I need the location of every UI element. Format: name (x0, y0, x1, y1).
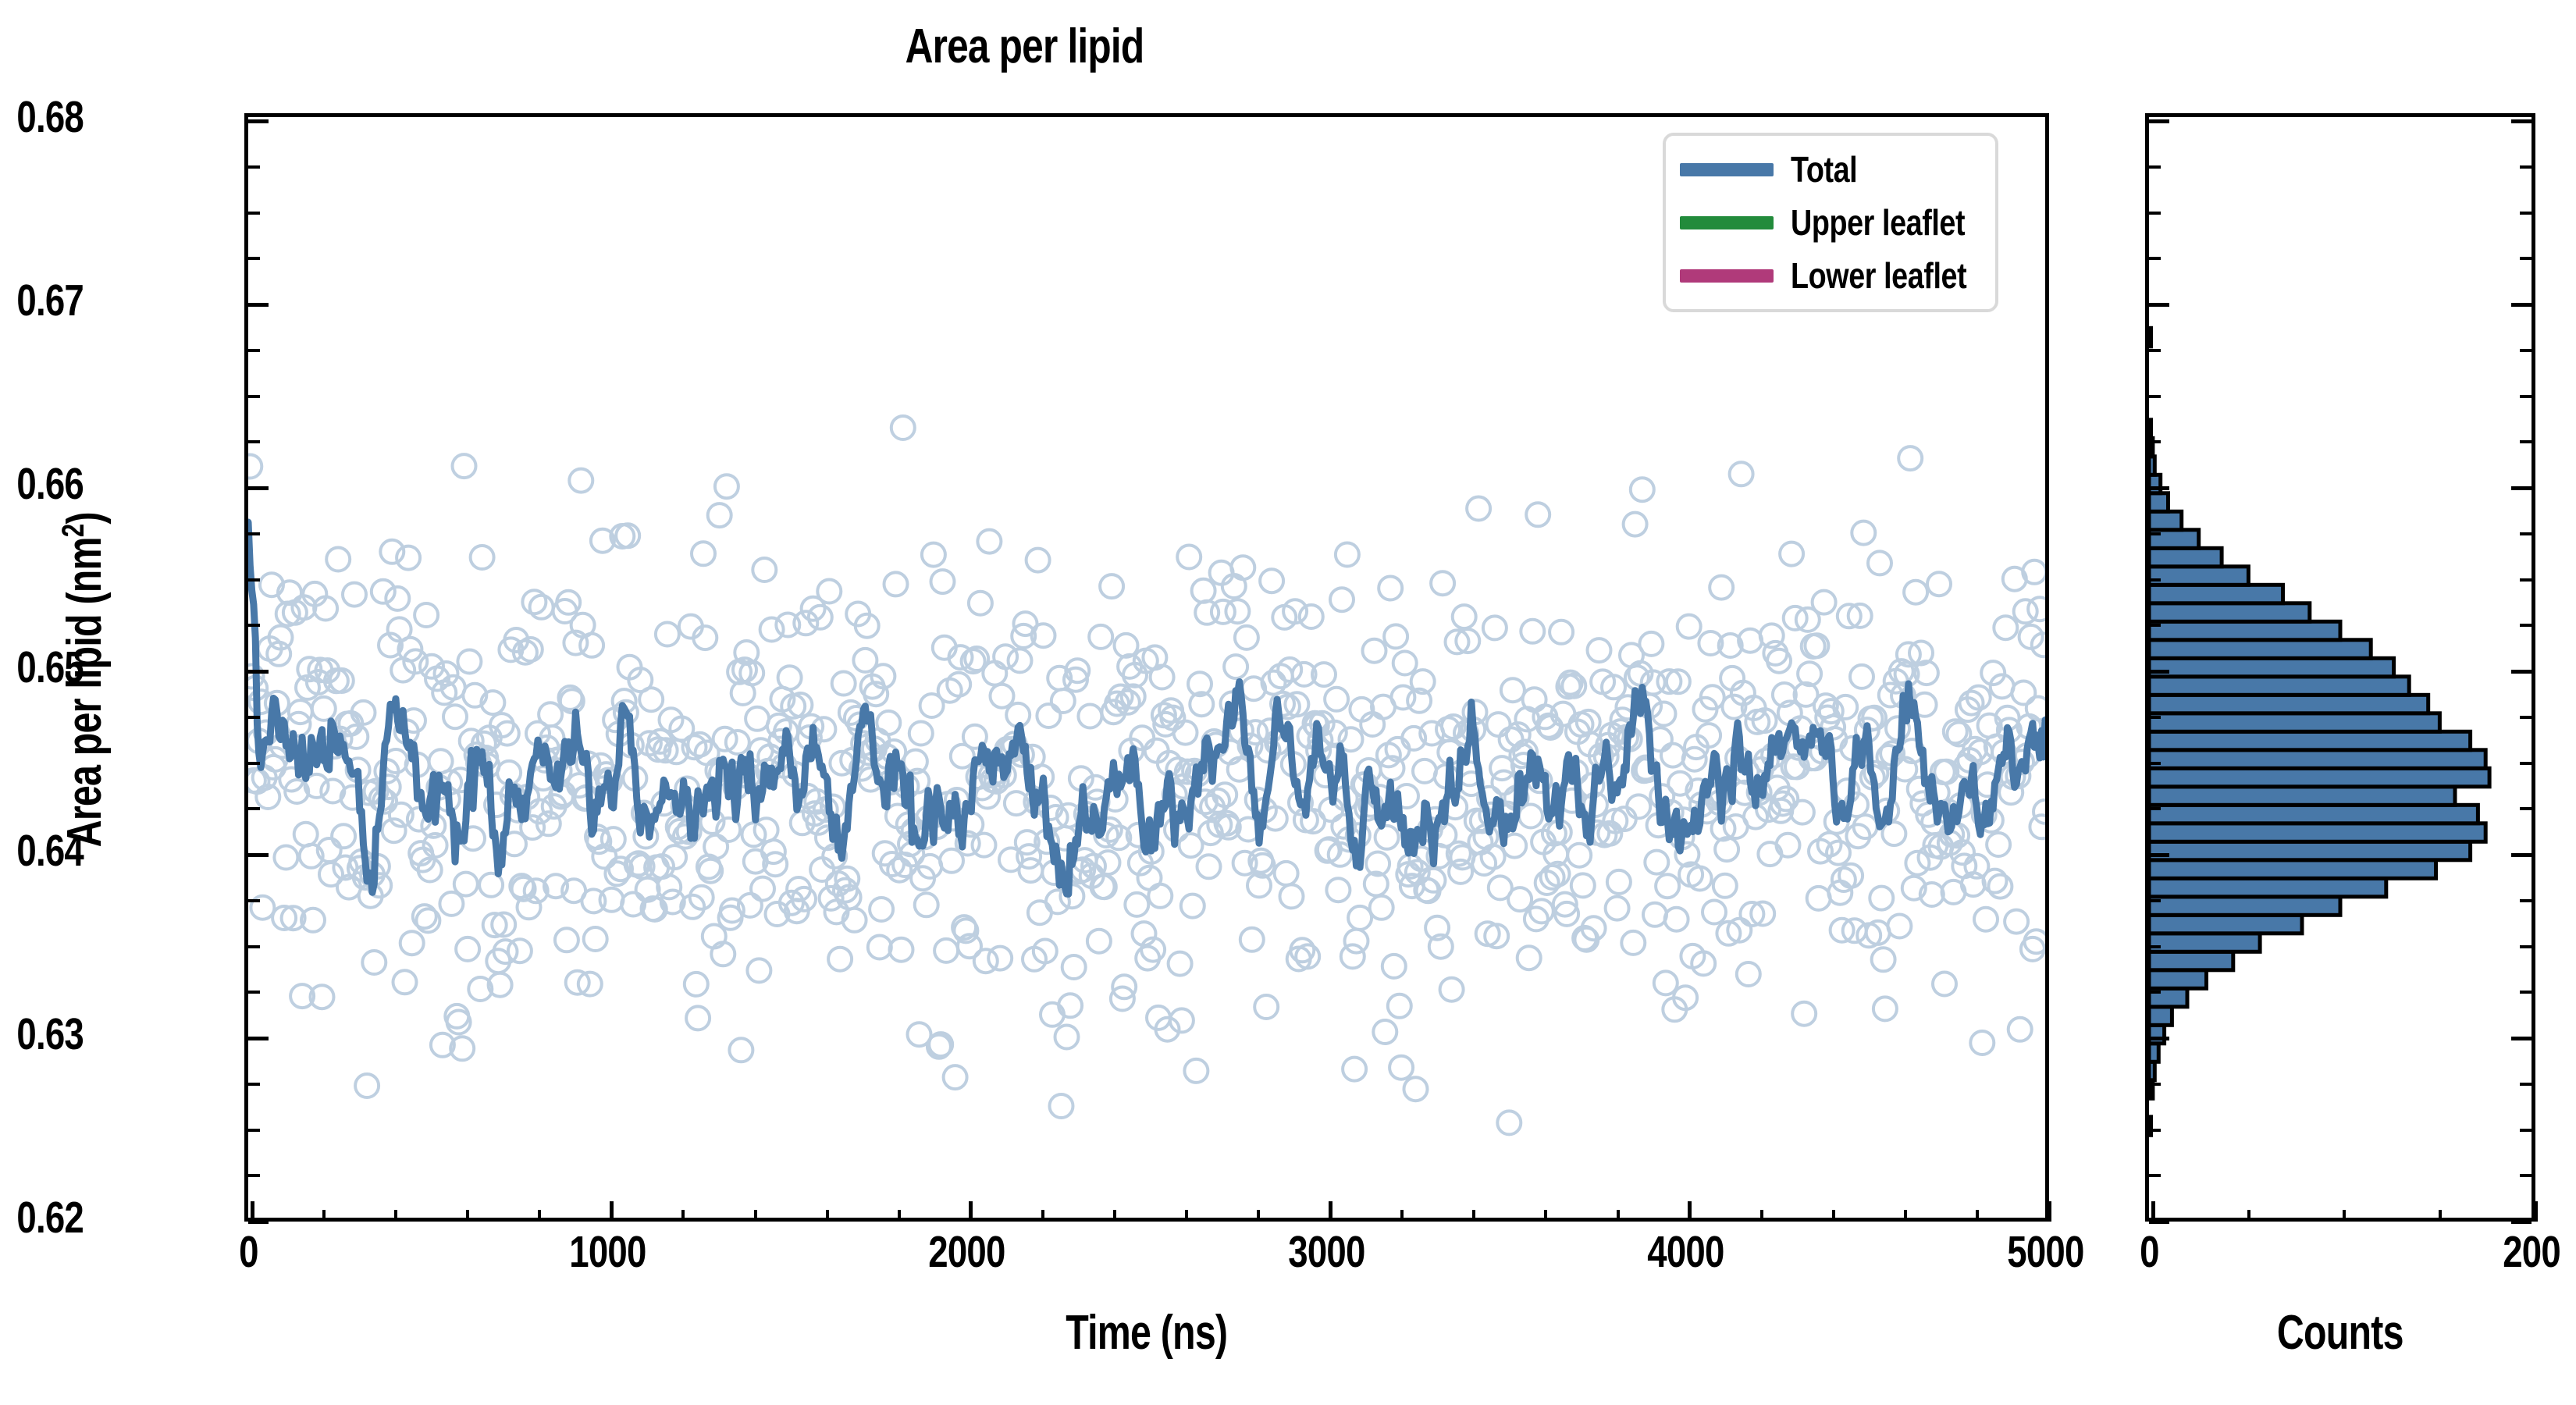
x-tick-label: 4000 (1530, 1226, 1842, 1278)
hist-y-tick-minor (2149, 578, 2161, 582)
histogram-bar (2149, 787, 2455, 806)
histogram-bar (2149, 731, 2471, 750)
hist-x-tick-minor (2439, 1210, 2442, 1222)
histogram-bar (2149, 1117, 2151, 1136)
histogram-svg (2149, 117, 2532, 1218)
histogram-bar (2149, 567, 2248, 585)
y-tick-label-text: 0.68 (16, 91, 84, 143)
y-tick-minor (248, 395, 260, 398)
x-axis-label-right: Counts (2145, 1305, 2535, 1361)
histogram-bar (2149, 934, 2260, 952)
hist-y-tick-major (2149, 670, 2169, 674)
histogram-bar (2149, 695, 2428, 713)
histogram-bar (2149, 420, 2151, 439)
hist-y-tick-minor (2149, 349, 2161, 352)
x-tick-minor (1041, 1210, 1044, 1222)
y-tick-minor (248, 945, 260, 948)
y-tick-minor (248, 762, 260, 765)
histogram-bar (2149, 658, 2394, 677)
hist-y-tick-minor (2149, 532, 2161, 535)
y-tick-minor (248, 1129, 260, 1132)
histogram-bar (2149, 768, 2489, 787)
hist-x-tick-minor (2247, 1210, 2250, 1222)
hist-y-tick-minor (2149, 807, 2161, 810)
hist-x-tick-label: 0 (1993, 1226, 2305, 1278)
x-axis-label-right-text: Counts (2277, 1305, 2403, 1361)
histogram-bar (2149, 823, 2485, 842)
hist-y-tick-minor-right (2520, 395, 2532, 398)
hist-x-tick-label: 200 (2375, 1226, 2576, 1278)
y-tick-minor (248, 716, 260, 719)
legend-label: Lower leaflet (1791, 254, 2005, 297)
x-tick-minor (1617, 1210, 1620, 1222)
hist-y-tick-minor-right (2520, 899, 2532, 902)
hist-y-tick-minor (2149, 899, 2161, 902)
hist-y-tick-minor-right (2520, 349, 2532, 352)
y-tick-minor (248, 257, 260, 260)
hist-y-tick-minor (2149, 440, 2161, 443)
y-tick-label-text: 0.62 (16, 1192, 84, 1243)
x-tick-major (1688, 1201, 1692, 1222)
page-title: Area per lipid (205, 19, 1845, 74)
x-tick-minor (1904, 1210, 1907, 1222)
hist-y-tick-major-right (2511, 1037, 2532, 1040)
hist-y-tick-minor (2149, 257, 2161, 260)
y-tick-label-text: 0.67 (16, 275, 84, 326)
legend-swatch-icon (1680, 163, 1774, 176)
x-tick-label-text: 3000 (1288, 1226, 1364, 1278)
y-tick-major (248, 1037, 269, 1040)
legend[interactable]: TotalUpper leafletLower leaflet (1663, 133, 1998, 312)
hist-y-tick-minor-right (2520, 1083, 2532, 1086)
x-tick-label: 3000 (1170, 1226, 1482, 1278)
legend-label: Upper leaflet (1791, 201, 2003, 244)
hist-y-tick-minor (2149, 395, 2161, 398)
x-tick-minor (898, 1210, 901, 1222)
hist-y-tick-major (2149, 303, 2169, 307)
y-tick-label-text: 0.65 (16, 642, 84, 693)
x-tick-minor (681, 1210, 685, 1222)
y-tick-label: 0.66 (0, 458, 232, 510)
hist-x-tick-label-text: 0 (2140, 1226, 2159, 1278)
hist-y-tick-minor-right (2520, 578, 2532, 582)
hist-y-tick-major-right (2511, 1220, 2532, 1224)
histogram-bar (2149, 713, 2439, 732)
hist-y-tick-minor (2149, 212, 2161, 215)
x-tick-minor (1185, 1210, 1188, 1222)
x-tick-minor (466, 1210, 469, 1222)
histogram-bar (2149, 841, 2471, 860)
hist-y-tick-minor-right (2520, 165, 2532, 169)
y-tick-minor (248, 1083, 260, 1086)
histogram-bar (2149, 915, 2302, 934)
hist-y-tick-minor-right (2520, 807, 2532, 810)
histogram-bar (2149, 1044, 2158, 1062)
hist-y-tick-minor (2149, 716, 2161, 719)
hist-y-tick-minor-right (2520, 212, 2532, 215)
hist-y-tick-minor-right (2520, 532, 2532, 535)
hist-y-tick-minor-right (2520, 257, 2532, 260)
hist-y-tick-minor (2149, 1174, 2161, 1177)
histogram-bar (2149, 878, 2386, 897)
hist-y-tick-minor-right (2520, 1174, 2532, 1177)
x-axis-label-left: Time (ns) (244, 1305, 2049, 1361)
histogram-bar (2149, 805, 2478, 823)
y-tick-label: 0.63 (0, 1008, 232, 1060)
legend-label: Total (1791, 148, 1872, 190)
hist-y-tick-major (2149, 486, 2169, 490)
x-tick-label: 1000 (451, 1226, 763, 1278)
hist-y-tick-minor (2149, 945, 2161, 948)
legend-swatch-icon (1680, 269, 1774, 283)
histogram-bar (2149, 897, 2340, 916)
hist-y-tick-minor-right (2520, 716, 2532, 719)
y-tick-minor (248, 624, 260, 627)
x-tick-minor (1544, 1210, 1547, 1222)
histogram-bar (2149, 493, 2169, 512)
y-tick-label: 0.65 (0, 642, 232, 693)
y-tick-major (248, 119, 269, 123)
histogram-bar (2149, 640, 2371, 659)
histogram-bar (2149, 457, 2154, 475)
x-axis-label-left-text: Time (ns) (1066, 1305, 1227, 1361)
histogram-bar (2149, 328, 2151, 347)
y-tick-label-text: 0.63 (16, 1008, 84, 1060)
figure-canvas: Area per lipid Area per lipid (nm2) Time… (0, 0, 2576, 1405)
histogram-bar (2149, 585, 2283, 603)
legend-item-total[interactable]: Total (1680, 153, 1981, 186)
hist-y-tick-major-right (2511, 670, 2532, 674)
hist-y-tick-minor (2149, 991, 2161, 994)
hist-y-tick-minor-right (2520, 624, 2532, 627)
histogram-clip (2149, 117, 2532, 1218)
y-tick-major (248, 486, 269, 490)
hist-y-tick-major (2149, 853, 2169, 857)
y-tick-minor (248, 807, 260, 810)
hist-x-tick-major (2534, 1201, 2538, 1222)
histogram-bar (2149, 1007, 2172, 1026)
y-tick-minor (248, 899, 260, 902)
y-tick-label-text: 0.66 (16, 458, 84, 510)
histogram-bar (2149, 677, 2409, 695)
x-tick-major (969, 1201, 973, 1222)
x-tick-minor (1113, 1210, 1116, 1222)
x-tick-label-text: 4000 (1647, 1226, 1724, 1278)
x-tick-major (610, 1201, 614, 1222)
hist-y-tick-major-right (2511, 119, 2532, 123)
y-tick-minor (248, 440, 260, 443)
hist-y-tick-minor (2149, 1129, 2161, 1132)
running-mean-line (248, 522, 2045, 894)
y-tick-minor (248, 349, 260, 352)
x-tick-major (2048, 1201, 2051, 1222)
legend-label-text: Total (1791, 148, 1857, 190)
legend-label-text: Lower leaflet (1791, 254, 1966, 297)
y-tick-minor (248, 165, 260, 169)
hist-y-tick-major (2149, 1037, 2169, 1040)
legend-swatch-icon (1680, 216, 1774, 229)
x-tick-minor (1257, 1210, 1260, 1222)
y-axis-label-exponent: 2 (56, 525, 91, 538)
hist-y-tick-minor (2149, 1083, 2161, 1086)
y-axis-label-tail: ) (58, 512, 112, 524)
y-tick-major (248, 670, 269, 674)
y-tick-major (248, 303, 269, 307)
y-tick-minor (248, 532, 260, 535)
hist-y-tick-major-right (2511, 853, 2532, 857)
hist-y-tick-major (2149, 119, 2169, 123)
x-tick-major (251, 1201, 254, 1222)
histogram-bar (2149, 970, 2207, 989)
hist-y-tick-minor (2149, 624, 2161, 627)
x-tick-label-text: 1000 (569, 1226, 646, 1278)
legend-item-upper-leaflet[interactable]: Upper leaflet (1680, 206, 1981, 239)
hist-y-tick-minor-right (2520, 991, 2532, 994)
y-tick-minor (248, 991, 260, 994)
histogram-bar (2149, 951, 2233, 970)
x-tick-label-text: 0 (239, 1226, 258, 1278)
hist-y-tick-minor-right (2520, 440, 2532, 443)
hist-y-tick-minor-right (2520, 1129, 2532, 1132)
histogram-bar (2149, 1062, 2154, 1080)
legend-label-text: Upper leaflet (1791, 201, 1965, 244)
y-tick-minor (248, 1174, 260, 1177)
hist-y-tick-major-right (2511, 486, 2532, 490)
histogram-bar (2149, 860, 2436, 879)
hist-y-tick-minor (2149, 165, 2161, 169)
hist-x-tick-label-text: 200 (2503, 1226, 2560, 1278)
y-tick-label: 0.67 (0, 275, 232, 326)
y-tick-minor (248, 212, 260, 215)
histogram-plot-area[interactable] (2145, 113, 2535, 1222)
x-tick-label-text: 2000 (929, 1226, 1005, 1278)
x-tick-minor (754, 1210, 757, 1222)
x-tick-minor (1976, 1210, 1979, 1222)
x-tick-minor (1472, 1210, 1475, 1222)
hist-y-tick-minor-right (2520, 945, 2532, 948)
y-tick-major (248, 853, 269, 857)
x-tick-minor (826, 1210, 829, 1222)
scatter-points (248, 416, 2045, 1134)
histogram-bar (2149, 621, 2340, 640)
x-tick-minor (1832, 1210, 1835, 1222)
histogram-bar (2149, 603, 2310, 622)
y-tick-label: 0.68 (0, 91, 232, 143)
hist-y-tick-major-right (2511, 303, 2532, 307)
hist-y-tick-minor-right (2520, 762, 2532, 765)
x-tick-minor (1400, 1210, 1404, 1222)
legend-item-lower-leaflet[interactable]: Lower leaflet (1680, 259, 1981, 292)
x-tick-label: 0 (92, 1226, 404, 1278)
x-tick-label: 2000 (811, 1226, 1123, 1278)
x-tick-minor (322, 1210, 326, 1222)
histogram-bars (2149, 328, 2489, 1135)
histogram-bar (2149, 511, 2182, 530)
hist-x-tick-minor (2343, 1210, 2346, 1222)
y-tick-label-text: 0.64 (16, 825, 84, 877)
histogram-bar (2149, 1025, 2165, 1044)
hist-y-tick-minor (2149, 762, 2161, 765)
x-tick-minor (538, 1210, 541, 1222)
x-tick-minor (394, 1210, 397, 1222)
y-tick-label: 0.64 (0, 825, 232, 877)
histogram-bar (2149, 475, 2161, 493)
y-tick-minor (248, 578, 260, 582)
histogram-bar (2149, 750, 2485, 769)
x-tick-major (1329, 1201, 1332, 1222)
x-tick-minor (1760, 1210, 1763, 1222)
hist-x-tick-major (2151, 1201, 2155, 1222)
histogram-bar (2149, 548, 2222, 567)
